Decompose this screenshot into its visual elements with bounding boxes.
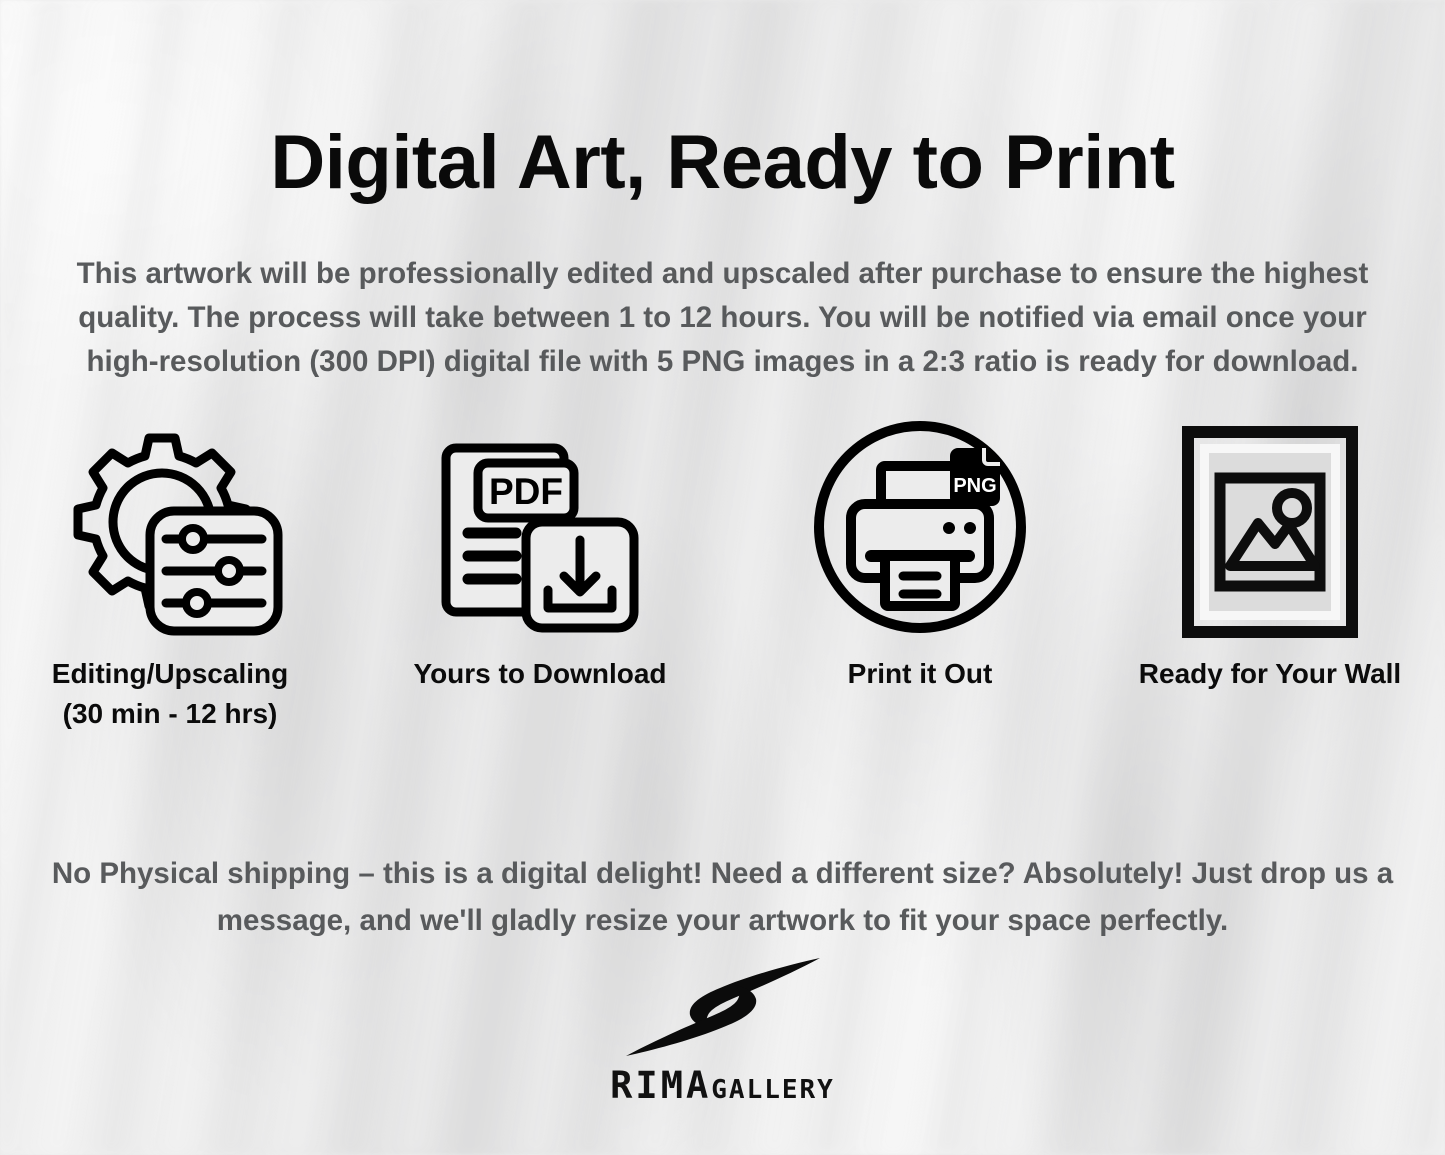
page-title: Digital Art, Ready to Print <box>0 123 1445 203</box>
feature-icon-wrap: PDF <box>355 418 725 638</box>
feature-label: Editing/Upscaling (30 min - 12 hrs) <box>0 654 340 734</box>
pdf-document-download-icon: PDF <box>436 438 644 638</box>
intro-paragraph: This artwork will be professionally edit… <box>48 252 1397 385</box>
feature-icon-wrap: PNG <box>760 418 1080 638</box>
gear-settings-sliders-icon <box>56 426 284 638</box>
feature-print-it-out: PNG Print it Out <box>760 418 1080 694</box>
feature-editing-upscaling: Editing/Upscaling (30 min - 12 hrs) <box>0 418 340 734</box>
png-file-badge: PNG <box>950 448 1000 506</box>
feature-yours-to-download: PDF Yours to Download <box>355 418 725 694</box>
marketing-banner: Digital Art, Ready to Print This artwork… <box>0 0 1445 1155</box>
brand-wordmark: RIMA GALLERY <box>610 1064 835 1107</box>
png-badge-label: PNG <box>953 475 996 497</box>
double-swoosh-logo-icon <box>608 952 838 1062</box>
pdf-badge-label: PDF <box>489 471 563 512</box>
printer-in-circle-icon: PNG <box>809 416 1031 638</box>
feature-label: Ready for Your Wall <box>1095 654 1445 694</box>
feature-label: Print it Out <box>760 654 1080 694</box>
feature-ready-for-your-wall: Ready for Your Wall <box>1095 418 1445 694</box>
brand-name-secondary: GALLERY <box>711 1075 835 1105</box>
feature-label: Yours to Download <box>355 654 725 694</box>
framed-picture-icon <box>1182 426 1358 638</box>
brand-logo: RIMA GALLERY <box>0 952 1445 1107</box>
brand-name-primary: RIMA <box>610 1064 711 1107</box>
feature-row: Editing/Upscaling (30 min - 12 hrs) <box>0 418 1445 758</box>
feature-icon-wrap <box>1095 418 1445 638</box>
feature-icon-wrap <box>0 418 340 638</box>
closing-paragraph: No Physical shipping – this is a digital… <box>40 850 1405 946</box>
